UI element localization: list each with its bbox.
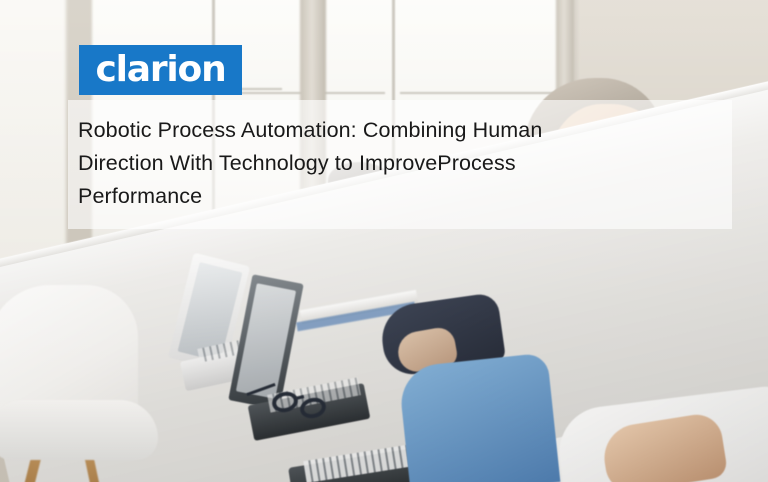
person-blue-shirt-arm bbox=[398, 353, 561, 482]
office-chair-seat bbox=[0, 400, 158, 460]
article-banner: Robotic Process Automation: Combining Hu… bbox=[0, 0, 768, 482]
clarion-logo-text: clarion bbox=[95, 52, 225, 88]
title-overlay-panel: Robotic Process Automation: Combining Hu… bbox=[68, 100, 732, 229]
window-mullion-horizontal bbox=[400, 92, 560, 94]
clarion-logo[interactable]: clarion bbox=[79, 45, 242, 95]
article-title: Robotic Process Automation: Combining Hu… bbox=[78, 114, 732, 213]
